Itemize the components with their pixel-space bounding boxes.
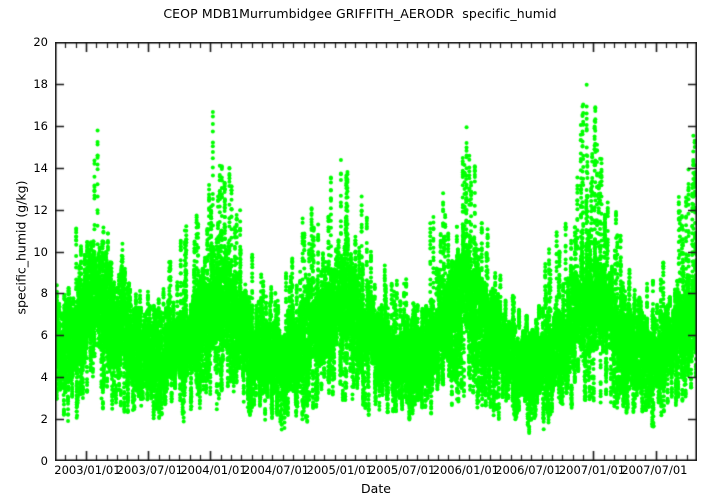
y-tick-label: 16 (0, 119, 48, 133)
y-tick-label: 8 (0, 286, 48, 300)
chart-title: CEOP MDB1Murrumbidgee GRIFFITH_AERODR sp… (0, 6, 720, 21)
figure: CEOP MDB1Murrumbidgee GRIFFITH_AERODR sp… (0, 0, 720, 504)
y-tick-label: 18 (0, 77, 48, 91)
y-tick-label: 14 (0, 161, 48, 175)
x-tick-label: 2007/01/01 (559, 463, 625, 477)
x-tick-label: 2003/01/01 (54, 463, 120, 477)
x-tick-label: 2004/01/01 (180, 463, 246, 477)
y-tick-label: 12 (0, 203, 48, 217)
x-tick-label: 2006/07/01 (495, 463, 561, 477)
y-tick-label: 20 (0, 35, 48, 49)
y-tick-label: 0 (0, 454, 48, 468)
x-tick-label: 2004/07/01 (243, 463, 309, 477)
x-axis-label: Date (55, 481, 697, 496)
x-tick-label: 2005/01/01 (307, 463, 373, 477)
y-tick-label: 4 (0, 370, 48, 384)
x-tick-label: 2003/07/01 (117, 463, 183, 477)
y-tick-label: 10 (0, 245, 48, 259)
y-tick-label: 6 (0, 328, 48, 342)
x-tick-label: 2005/07/01 (369, 463, 435, 477)
x-tick-label: 2007/07/01 (621, 463, 687, 477)
y-tick-label: 2 (0, 412, 48, 426)
plot-area (55, 42, 697, 461)
x-tick-label: 2006/01/01 (433, 463, 499, 477)
